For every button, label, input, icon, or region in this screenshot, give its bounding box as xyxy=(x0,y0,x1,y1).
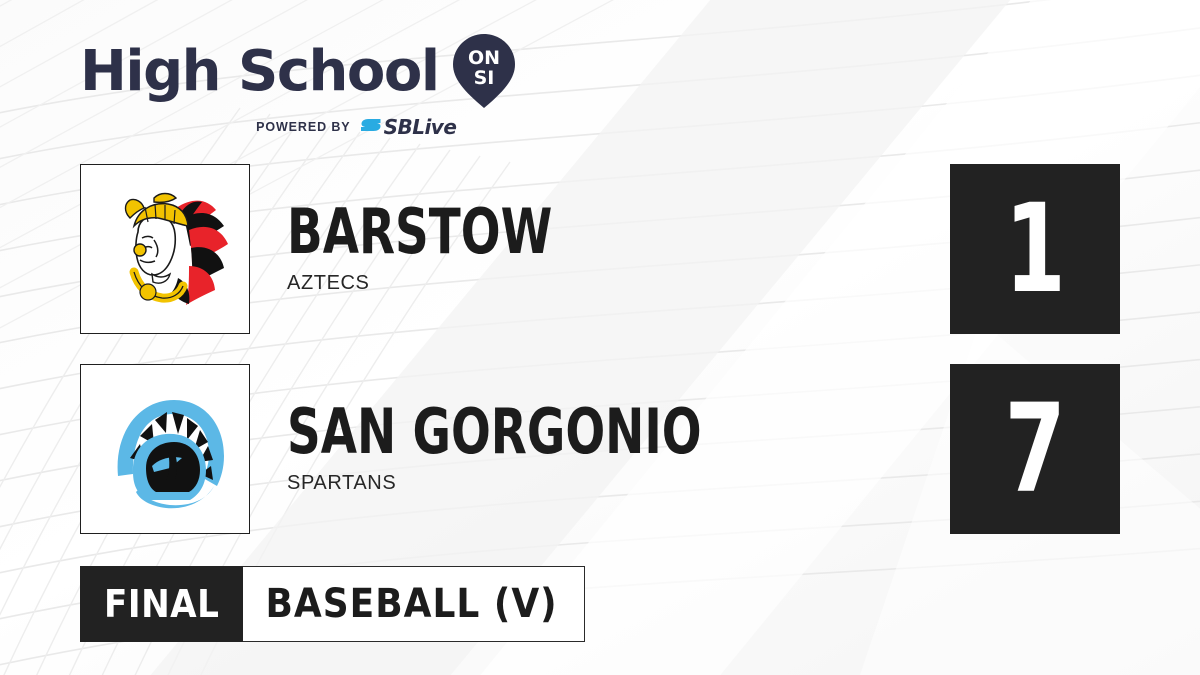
powered-by-label: POWERED BY xyxy=(256,120,350,134)
page-title: High School xyxy=(80,44,439,100)
team-row-home: SAN GORGONIO SPARTANS xyxy=(80,364,781,534)
sblive-wordmark: SBLive xyxy=(384,117,457,137)
status-bar: FINAL BASEBALL (V) xyxy=(80,566,585,642)
sblive-logo: SBLive xyxy=(359,117,457,137)
sblive-s-mark-icon xyxy=(359,117,383,137)
team-name-away: BARSTOW xyxy=(287,203,552,260)
team-row-away: BARSTOW AZTECS xyxy=(80,164,603,334)
team-name-home: SAN GORGONIO xyxy=(287,403,702,460)
aztec-warrior-head-logo-icon xyxy=(90,174,240,324)
score-box-home: 7 xyxy=(950,364,1120,534)
team-mascot-away: AZTECS xyxy=(287,272,603,295)
on-si-pin-icon: ON SI xyxy=(453,34,515,108)
status-badge: FINAL xyxy=(80,566,243,642)
brand-title-row: High School ON SI xyxy=(80,36,515,108)
score-value-home: 7 xyxy=(1004,388,1065,510)
score-box-away: 1 xyxy=(950,164,1120,334)
team-mascot-home: SPARTANS xyxy=(287,472,781,495)
team-text-home: SAN GORGONIO SPARTANS xyxy=(287,403,781,494)
sport-label: BASEBALL (V) xyxy=(243,566,584,642)
brand-lockup: High School ON SI POWERED BY SBLive xyxy=(80,36,515,137)
score-value-away: 1 xyxy=(1004,188,1065,310)
pin-top-text: ON xyxy=(468,47,500,69)
team-logo-box-away xyxy=(80,164,250,334)
spartan-helmet-logo-icon xyxy=(90,374,240,524)
team-logo-box-home xyxy=(80,364,250,534)
pin-bottom-text: SI xyxy=(473,67,494,89)
team-text-away: BARSTOW AZTECS xyxy=(287,203,603,294)
powered-by-row: POWERED BY SBLive xyxy=(198,117,515,137)
